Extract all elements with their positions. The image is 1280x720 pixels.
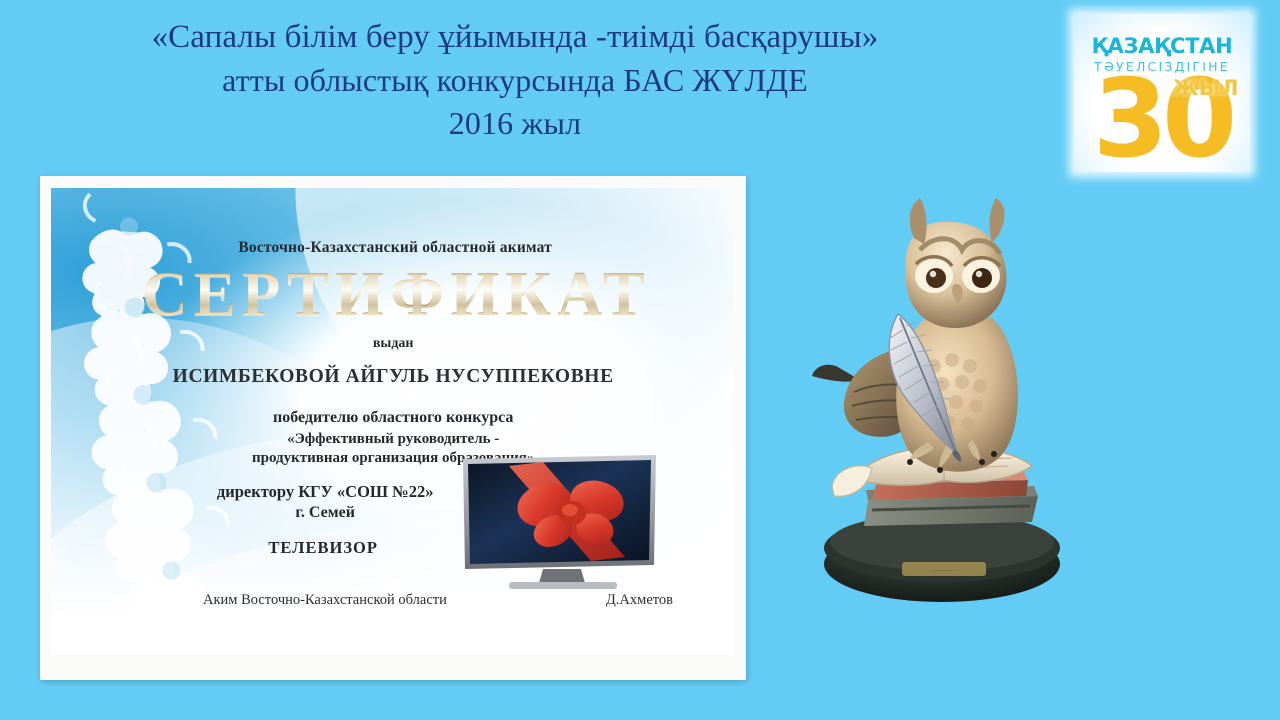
television-with-red-gift-bow xyxy=(457,453,662,598)
certificate-issuer: Восточно-Казахстанский областной акимат xyxy=(81,239,709,257)
logo-country-label: ҚАЗАҚСТАН xyxy=(1074,34,1250,58)
page-title: «Сапалы білім беру ұйымында -тиімді басқ… xyxy=(0,16,1030,145)
title-line-2: атты облыстық конкурсында БАС ЖҮЛДЕ xyxy=(0,59,1030,102)
certificate-heading: СЕРТИФИКАТ xyxy=(79,258,714,331)
certificate-contest-line-1: «Эффективный руководитель - xyxy=(79,431,707,448)
certificate-recipient: ИСИМБЕКОВОЙ АЙГУЛЬ НУСУППЕКОВНЕ xyxy=(79,366,707,388)
logo-years-label: ЖЫЛ xyxy=(1173,76,1239,100)
title-line-1: «Сапалы білім беру ұйымында -тиімді басқ… xyxy=(0,16,1030,59)
loose-page xyxy=(832,466,872,497)
svg-text:———: ——— xyxy=(931,565,957,574)
certificate-issued-label: выдан xyxy=(79,336,707,352)
certificate-design: Восточно-Казахстанский областной акимат … xyxy=(51,188,734,654)
signer-title: Аким Восточно-Казахстанской области xyxy=(203,592,447,609)
owl-ear-tuft-left xyxy=(910,198,927,244)
certificate-award-line: победителю областного конкурса xyxy=(79,409,707,427)
certificate-photo: Восточно-Казахстанский областной акимат … xyxy=(40,176,746,680)
owl-ear-tuft-right xyxy=(989,198,1004,242)
owl-figurine-with-quill-on-books: ——— xyxy=(806,196,1078,610)
kazakhstan-30-years-logo: ҚАЗАҚСТАН ТӘУЕЛСІЗДІГІНЕ 30 ЖЫЛ xyxy=(1074,14,1250,172)
title-line-3: 2016 жыл xyxy=(0,102,1030,145)
